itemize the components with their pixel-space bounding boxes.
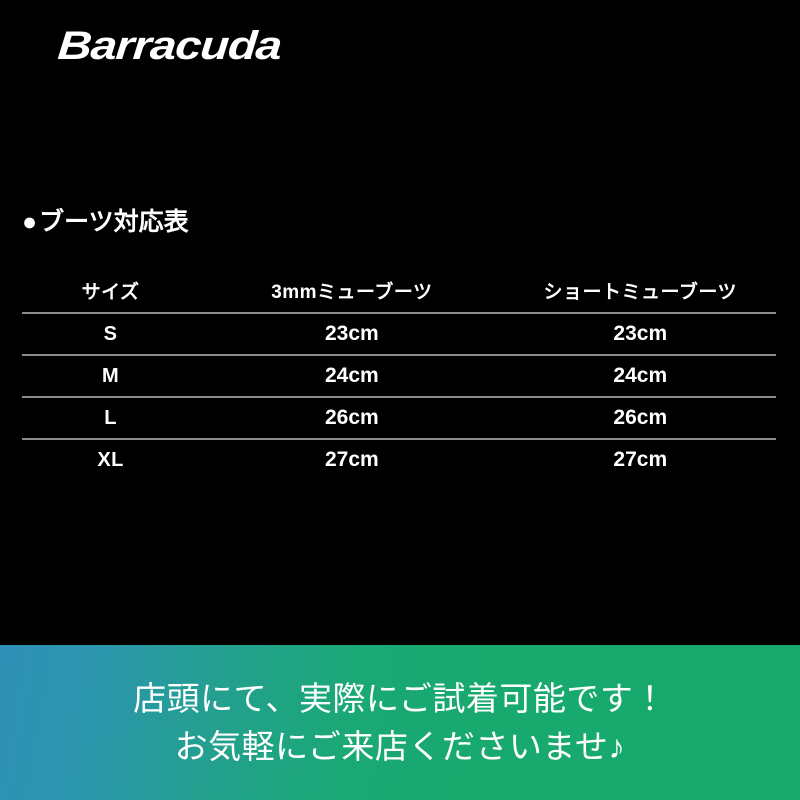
cell-short-boots: 27cm — [505, 439, 776, 480]
table-header-row: サイズ 3mmミューブーツ ショートミューブーツ — [22, 268, 776, 313]
cell-3mm-boots: 27cm — [199, 439, 504, 480]
section-heading-label: ブーツ対応表 — [39, 210, 189, 235]
cell-size: M — [22, 355, 199, 397]
cell-short-boots: 23cm — [505, 313, 776, 355]
cell-3mm-boots: 24cm — [199, 355, 504, 397]
table-row: S 23cm 23cm — [22, 313, 776, 355]
boot-size-table: サイズ 3mmミューブーツ ショートミューブーツ S 23cm 23cm M 2… — [22, 268, 776, 480]
promo-line-2: お気軽にご来店くださいませ♪ — [175, 725, 626, 769]
table-row: L 26cm 26cm — [22, 397, 776, 439]
size-chart-page: Barracuda ● ブーツ対応表 サイズ 3mmミューブーツ ショートミュー… — [0, 0, 800, 800]
cell-3mm-boots: 26cm — [199, 397, 504, 439]
cell-short-boots: 24cm — [505, 355, 776, 397]
section-heading: ● ブーツ対応表 — [22, 210, 189, 235]
cell-short-boots: 26cm — [505, 397, 776, 439]
promo-banner: 店頭にて、実際にご試着可能です！ お気軽にご来店くださいませ♪ — [0, 645, 800, 800]
cell-size: S — [22, 313, 199, 355]
promo-line-1: 店頭にて、実際にご試着可能です！ — [133, 677, 667, 721]
cell-3mm-boots: 23cm — [199, 313, 504, 355]
bullet-icon: ● — [22, 210, 37, 235]
column-header-short-boots: ショートミューブーツ — [505, 268, 776, 313]
column-header-3mm-boots: 3mmミューブーツ — [199, 268, 504, 313]
table-row: M 24cm 24cm — [22, 355, 776, 397]
cell-size: XL — [22, 439, 199, 480]
brand-logo: Barracuda — [56, 26, 282, 66]
column-header-size: サイズ — [22, 268, 199, 313]
table-row: XL 27cm 27cm — [22, 439, 776, 480]
cell-size: L — [22, 397, 199, 439]
